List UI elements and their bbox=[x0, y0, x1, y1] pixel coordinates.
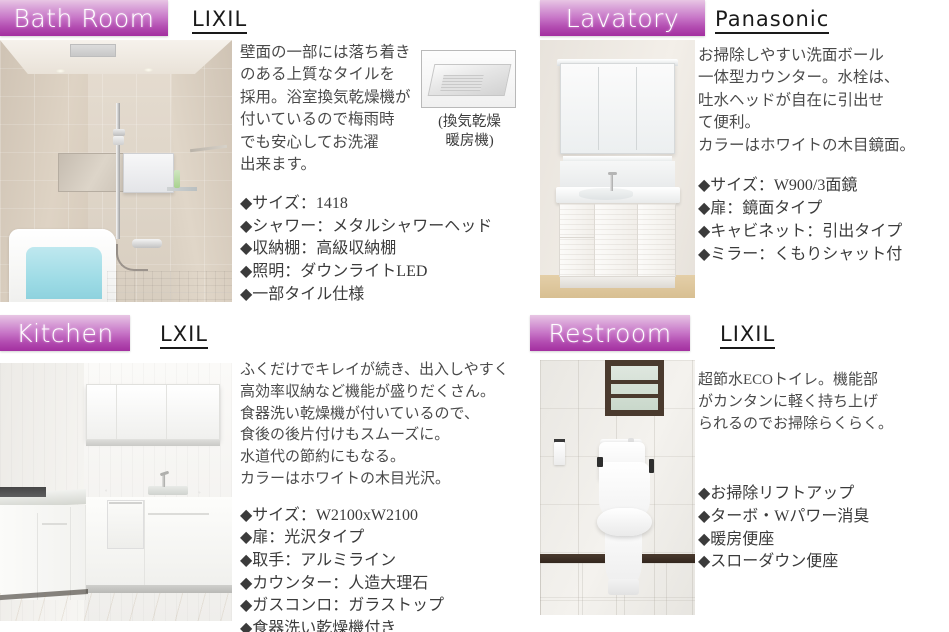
text-column-kitchen: ふくだけでキレイが続き、出入しやすく 高効率収納など機能が盛りだくさん。 食器洗… bbox=[240, 360, 530, 632]
toilet-seat bbox=[597, 508, 651, 536]
section-title-kitchen: Kitchen bbox=[16, 319, 113, 348]
section-bath-room: Bath Room LIXIL bbox=[0, 0, 530, 310]
spec-item: ◆お掃除リフトアップ bbox=[698, 483, 949, 506]
kitchen-sink bbox=[148, 486, 187, 495]
brand-label-kitchen: LXIL bbox=[160, 322, 208, 349]
kitchen-faucet bbox=[162, 474, 165, 487]
spec-list-kitchen: ◆サイズ：W2100xW2100 ◆扉：光沢タイプ ◆取手：アルミライン ◆カウ… bbox=[240, 505, 530, 632]
section-restroom: Restroom LIXIL bbox=[530, 315, 949, 632]
inset-caption: (換気乾燥 暖房機) bbox=[421, 113, 518, 151]
text-column-lavatory: お掃除しやすい洗面ボール 一体型カウンター。水栓は、 吐水ヘッドが自在に引出せ … bbox=[698, 45, 949, 266]
text-column-restroom: 超節水ECOトイレ。機能部 がカンタンに軽く持ち上げ られるのでお掃除らくらく。… bbox=[698, 370, 949, 574]
spec-item: ◆取手：アルミライン bbox=[240, 550, 530, 573]
spec-list-restroom: ◆お掃除リフトアップ ◆ターボ・Wパワー消臭 ◆暖房便座 ◆スローダウン便座 bbox=[698, 483, 949, 574]
section-title-restroom: Restroom bbox=[548, 319, 671, 348]
section-title-lavatory: Lavatory bbox=[566, 4, 680, 33]
section-header-restroom: Restroom LIXIL bbox=[530, 315, 949, 353]
section-lavatory: Lavatory Panasonic bbox=[530, 0, 949, 310]
spec-item: ◆ミラー：くもりシャット付 bbox=[698, 244, 949, 267]
dishwasher bbox=[107, 500, 144, 549]
description-restroom: 超節水ECOトイレ。機能部 がカンタンに軽く持ち上げ られるのでお掃除らくらく。 bbox=[698, 370, 949, 435]
spec-item: ◆照明：ダウンライトLED bbox=[240, 261, 530, 284]
spec-item: ◆扉：鏡面タイプ bbox=[698, 198, 949, 221]
brand-label-restroom: LIXIL bbox=[720, 322, 775, 349]
spec-item: ◆収納棚：高級収納棚 bbox=[240, 238, 530, 261]
spec-item: ◆暖房便座 bbox=[698, 529, 949, 552]
spec-item: ◆キャビネット：引出タイプ bbox=[698, 221, 949, 244]
pull-out-faucet bbox=[610, 173, 613, 191]
spec-list-lavatory: ◆サイズ：W900/3面鏡 ◆扉：鏡面タイプ ◆キャビネット：引出タイプ ◆ミラ… bbox=[698, 175, 949, 266]
toilet-paper-holder bbox=[554, 442, 565, 465]
section-header-bath: Bath Room LIXIL bbox=[0, 0, 530, 38]
spec-item: ◆サイズ：W900/3面鏡 bbox=[698, 175, 949, 198]
section-badge-restroom: Restroom bbox=[530, 315, 690, 351]
lavatory-vanity-photo bbox=[540, 40, 695, 298]
description-lavatory: お掃除しやすい洗面ボール 一体型カウンター。水栓は、 吐水ヘッドが自在に引出せ … bbox=[698, 45, 949, 157]
spec-item: ◆シャワー：メタルシャワーヘッド bbox=[240, 216, 530, 239]
kitchen-photo bbox=[0, 363, 232, 621]
spec-item: ◆ガスコンロ：ガラストップ bbox=[240, 595, 530, 618]
wash-basin bbox=[579, 188, 633, 200]
spec-item: ◆スローダウン便座 bbox=[698, 551, 949, 574]
three-panel-mirror-cabinet bbox=[560, 63, 675, 153]
section-header-lavatory: Lavatory Panasonic bbox=[530, 0, 949, 38]
spec-item: ◆サイズ：W2100xW2100 bbox=[240, 505, 530, 528]
ceiling-vent-icon bbox=[70, 44, 116, 57]
bathroom-photo bbox=[0, 40, 232, 302]
spec-item: ◆食器洗い乾燥機付き bbox=[240, 618, 530, 632]
spec-item: ◆一部タイル仕様 bbox=[240, 284, 530, 307]
wall-cabinet bbox=[86, 384, 221, 441]
window bbox=[605, 360, 664, 416]
spec-item: ◆カウンター：人造大理石 bbox=[240, 573, 530, 596]
vanity-cabinet bbox=[559, 203, 677, 278]
spec-list-bath: ◆サイズ：1418 ◆シャワー：メタルシャワーヘッド ◆収納棚：高級収納棚 ◆照… bbox=[240, 193, 530, 307]
section-badge-kitchen: Kitchen bbox=[0, 315, 130, 351]
section-kitchen: Kitchen LXIL bbox=[0, 315, 530, 632]
restroom-toilet-photo bbox=[540, 360, 695, 615]
brand-label-lavatory: Panasonic bbox=[715, 7, 829, 34]
shower-slide-bar bbox=[116, 103, 120, 239]
equipment-spec-sheet: Bath Room LIXIL bbox=[0, 0, 949, 632]
inset-ventilation-unit: (換気乾燥 暖房機) bbox=[421, 50, 518, 151]
ventilation-dryer-heater-icon bbox=[421, 50, 516, 108]
spec-item: ◆ターボ・Wパワー消臭 bbox=[698, 506, 949, 529]
section-header-kitchen: Kitchen LXIL bbox=[0, 315, 530, 353]
spec-item: ◆サイズ：1418 bbox=[240, 193, 530, 216]
section-badge-bath: Bath Room bbox=[0, 0, 168, 36]
description-kitchen: ふくだけでキレイが続き、出入しやすく 高効率収納など機能が盛りだくさん。 食器洗… bbox=[240, 360, 530, 491]
section-title-bath: Bath Room bbox=[14, 4, 155, 33]
brand-label-bath: LIXIL bbox=[192, 7, 247, 34]
gas-cooktop bbox=[0, 487, 46, 497]
section-badge-lavatory: Lavatory bbox=[540, 0, 705, 36]
spec-item: ◆扉：光沢タイプ bbox=[240, 527, 530, 550]
